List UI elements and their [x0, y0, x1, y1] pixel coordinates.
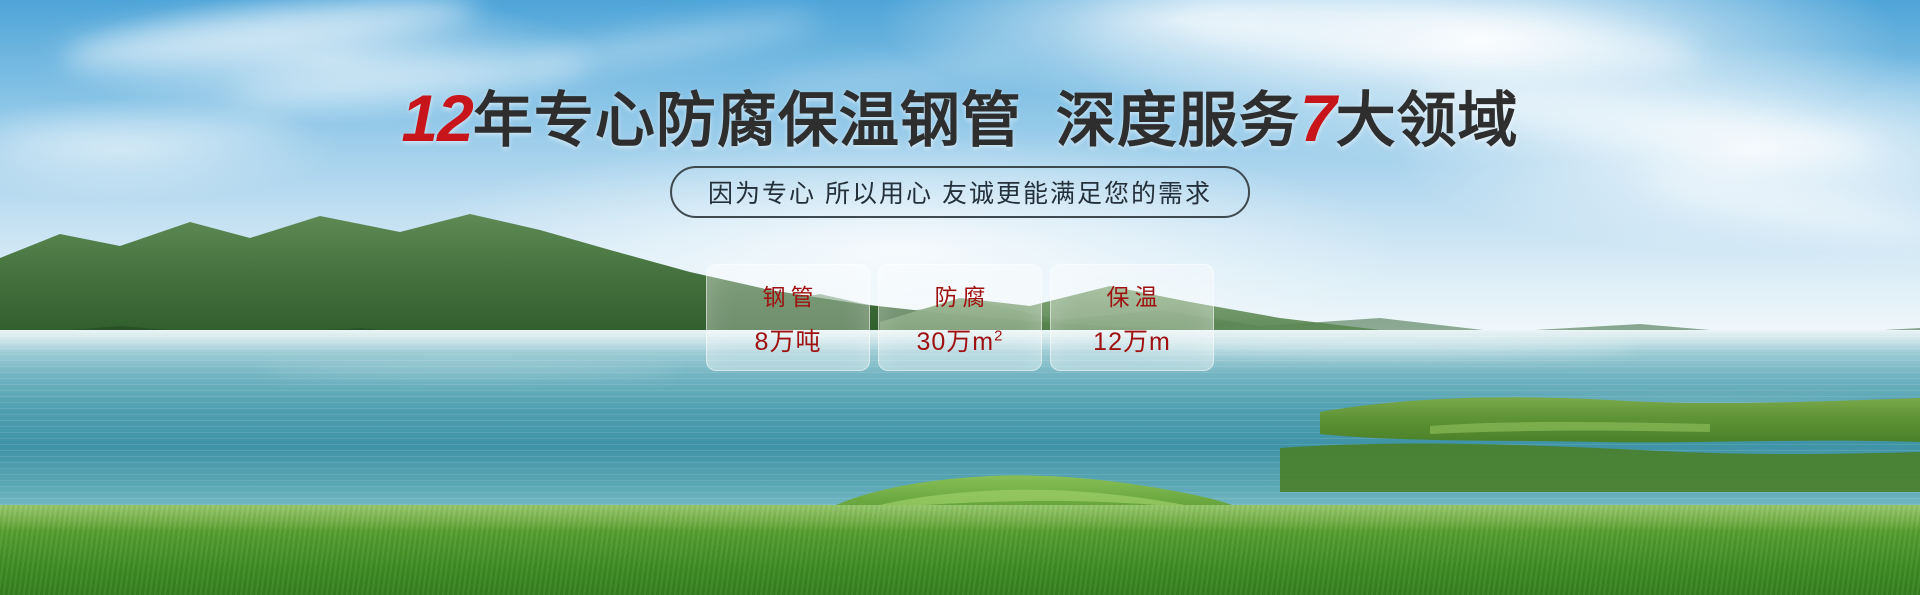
stat-card-label: 防腐 — [930, 278, 991, 312]
stat-card-steel-pipe[interactable]: 钢管 8万吨 — [706, 264, 870, 371]
cloud-wisp-icon — [1179, 0, 1702, 86]
stat-card-label: 钢管 — [758, 278, 819, 312]
headline-service-text: 深度服务 — [1056, 87, 1300, 154]
headline-main-text: 专心防腐保温钢管 — [534, 87, 1022, 154]
headline-fields-number: 7 — [1300, 81, 1336, 155]
stat-card-value-text: 8万吨 — [755, 328, 822, 356]
grass-texture — [0, 505, 1920, 595]
cloud-wisp-icon — [520, 7, 820, 80]
headline-years-number: 12 — [401, 81, 472, 155]
stat-card-value: 30万m2 — [917, 322, 1004, 358]
stat-card-value-text: 12万m — [1093, 328, 1171, 356]
stat-card-value-superscript: 2 — [994, 327, 1003, 344]
headline-years-suffix: 年 — [473, 87, 534, 154]
subtitle-text: 因为专心 所以用心 友诚更能满足您的需求 — [708, 174, 1212, 210]
hero-banner: 12年专心防腐保温钢管深度服务7大领域 因为专心 所以用心 友诚更能满足您的需求… — [0, 0, 1920, 595]
stat-card-value-text: 30万m — [917, 328, 995, 356]
stat-card-value: 8万吨 — [755, 322, 822, 358]
stat-card-anticorrosion[interactable]: 防腐 30万m2 — [878, 264, 1042, 371]
stat-card-value: 12万m — [1093, 322, 1171, 358]
marsh-bank — [1280, 372, 1920, 492]
stat-card-group: 钢管 8万吨 防腐 30万m2 保温 12万m — [706, 264, 1214, 371]
stat-card-label: 保温 — [1102, 278, 1163, 312]
grass-foreground — [0, 505, 1920, 595]
stat-card-insulation[interactable]: 保温 12万m — [1050, 264, 1214, 371]
water-glint — [260, 364, 680, 376]
headline-fields-suffix: 大领域 — [1336, 87, 1519, 154]
subtitle-pill: 因为专心 所以用心 友诚更能满足您的需求 — [670, 166, 1250, 218]
page-title: 12年专心防腐保温钢管深度服务7大领域 — [0, 82, 1920, 157]
